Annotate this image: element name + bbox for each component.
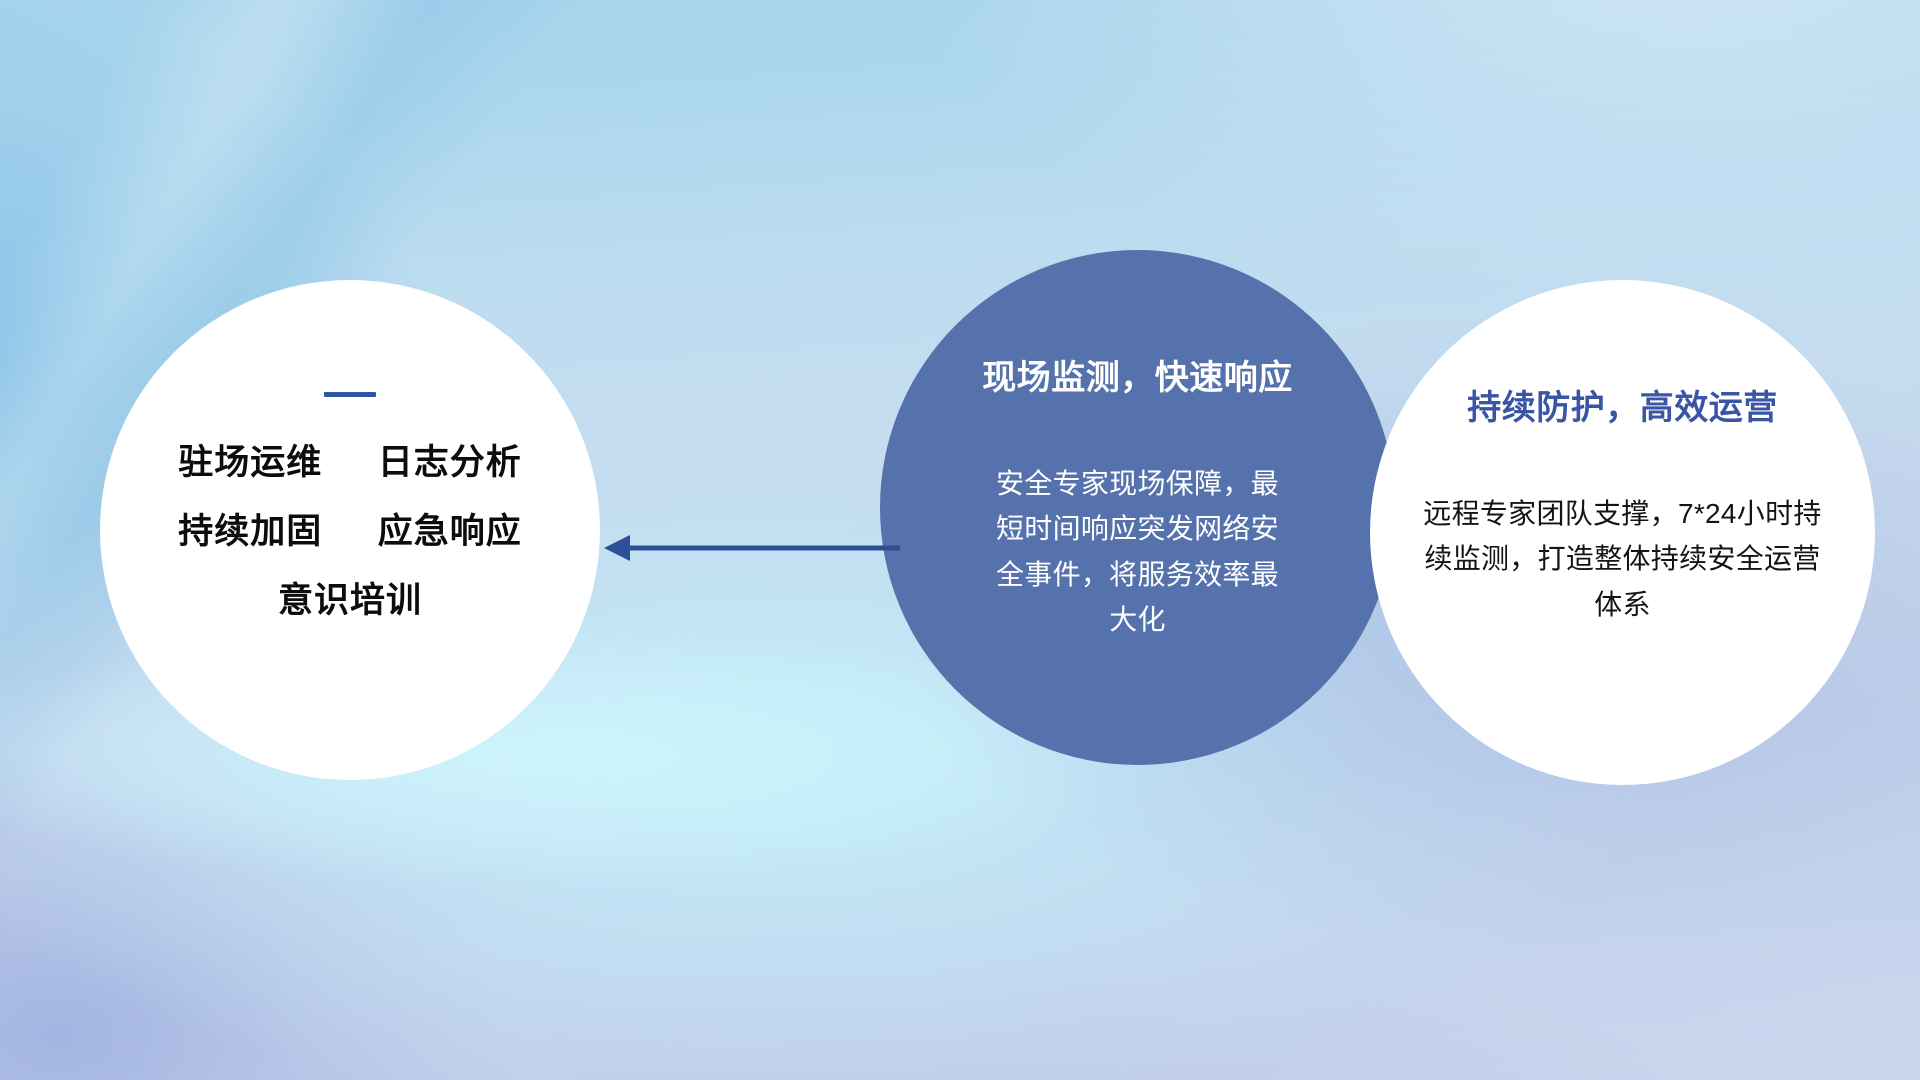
capability-label: 意识培训 xyxy=(278,581,422,620)
middle-circle-body: 安全专家现场保障，最短时间响应突发网络安全事件，将服务效率最大化 xyxy=(983,461,1293,642)
right-circle-body: 远程专家团队支撑，7*24小时持续监测，打造整体持续安全运营体系 xyxy=(1423,491,1823,627)
capability-label: 持续加固 xyxy=(178,512,322,551)
capability-label: 日志分析 xyxy=(378,443,522,482)
capability-label: 应急响应 xyxy=(378,512,522,551)
capability-circle-left: 驻场运维 日志分析 持续加固 应急响应 意识培训 xyxy=(100,280,600,780)
middle-circle-title: 现场监测，快速响应 xyxy=(982,350,1293,399)
capability-row: 意识培训 xyxy=(278,583,422,618)
left-arrow-icon xyxy=(600,525,900,571)
blue-dash-divider-icon xyxy=(324,392,376,397)
capability-row: 驻场运维 日志分析 xyxy=(178,445,522,480)
right-circle-title: 持续防护，高效运营 xyxy=(1467,380,1778,429)
capability-circle-right: 持续防护，高效运营 远程专家团队支撑，7*24小时持续监测，打造整体持续安全运营… xyxy=(1370,280,1875,785)
capability-circle-middle: 现场监测，快速响应 安全专家现场保障，最短时间响应突发网络安全事件，将服务效率最… xyxy=(880,250,1395,765)
capability-label: 驻场运维 xyxy=(178,443,322,482)
left-arrow-connector xyxy=(600,525,900,571)
capability-row: 持续加固 应急响应 xyxy=(178,514,522,549)
